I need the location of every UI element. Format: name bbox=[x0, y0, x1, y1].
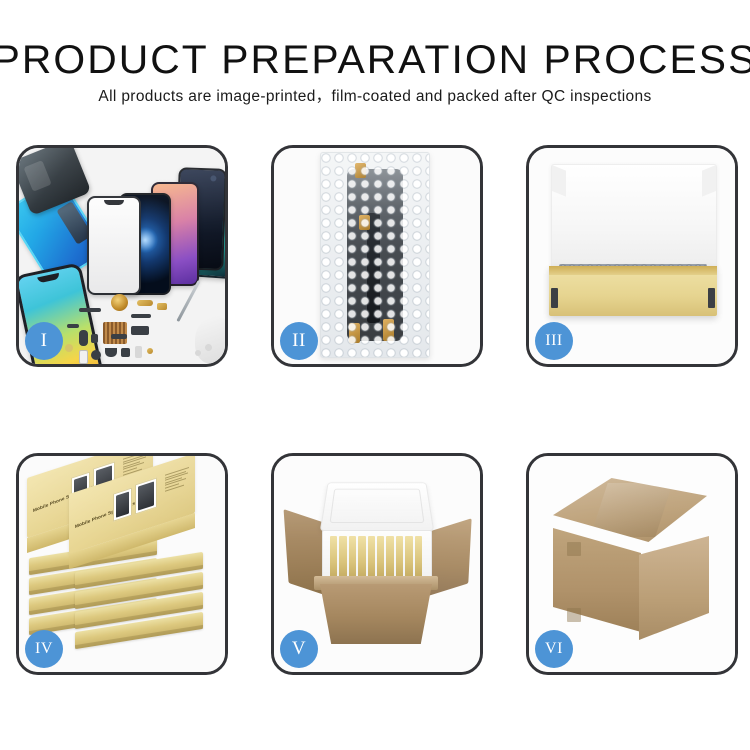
step-4-badge: IV bbox=[25, 630, 63, 668]
part-icon bbox=[205, 344, 212, 351]
yellow-retail-boxes-icon bbox=[330, 536, 422, 580]
box-window bbox=[113, 488, 132, 522]
tweezers-icon bbox=[176, 280, 200, 322]
part-icon bbox=[111, 334, 127, 339]
process-step-4: Mobile Phone Spare Parts Mobil bbox=[16, 453, 228, 675]
sealed-carton-top-icon bbox=[553, 478, 707, 542]
process-step-grid: I II bbox=[0, 0, 750, 750]
white-foam-lid-icon bbox=[551, 164, 717, 272]
part-icon bbox=[157, 303, 167, 310]
part-icon bbox=[135, 346, 142, 358]
tape-strip-icon bbox=[567, 608, 581, 622]
step-1-badge: I bbox=[25, 322, 63, 360]
white-front-glass-icon bbox=[87, 196, 141, 295]
part-icon bbox=[65, 344, 73, 352]
product-preparation-infographic: PRODUCT PREPARATION PROCESS All products… bbox=[0, 0, 750, 750]
box-notch-icon bbox=[708, 288, 715, 308]
part-icon bbox=[79, 350, 88, 364]
foam-lid-icon bbox=[320, 482, 434, 531]
tape-strip-icon bbox=[567, 542, 581, 556]
part-icon bbox=[91, 334, 98, 343]
sealed-carton-side-icon bbox=[639, 536, 709, 640]
part-icon bbox=[131, 326, 149, 335]
part-icon bbox=[121, 348, 130, 357]
gold-connector-tab-icon bbox=[349, 323, 360, 343]
part-icon bbox=[131, 314, 151, 318]
part-icon bbox=[91, 350, 101, 360]
process-step-2: II bbox=[271, 145, 483, 367]
box-spec-lines bbox=[165, 467, 189, 493]
process-step-5: V bbox=[271, 453, 483, 675]
gold-connector-tab-icon bbox=[359, 215, 370, 230]
kraft-inner-box-icon bbox=[549, 266, 717, 316]
disassembled-back-housing-icon bbox=[16, 145, 92, 216]
part-icon bbox=[105, 348, 117, 357]
part-icon bbox=[195, 350, 201, 356]
part-icon bbox=[67, 324, 79, 328]
step-3-badge: III bbox=[535, 322, 573, 360]
hand-icon bbox=[195, 316, 228, 364]
box-notch-icon bbox=[551, 288, 558, 308]
part-icon bbox=[137, 300, 153, 306]
outer-carton-icon bbox=[320, 584, 432, 644]
gold-connector-tab-icon bbox=[383, 319, 394, 341]
process-step-1: I bbox=[16, 145, 228, 367]
step-6-badge: VI bbox=[535, 630, 573, 668]
speaker-coil-icon bbox=[111, 294, 128, 311]
part-icon bbox=[79, 330, 88, 346]
part-icon bbox=[147, 348, 153, 354]
bubble-wrap-bag-icon bbox=[320, 152, 430, 358]
gold-connector-tab-icon bbox=[355, 163, 366, 178]
box-window bbox=[135, 477, 157, 514]
step-2-badge: II bbox=[280, 322, 318, 360]
part-icon bbox=[79, 308, 101, 312]
process-step-6: VI bbox=[526, 453, 738, 675]
step-5-badge: V bbox=[280, 630, 318, 668]
connector-pad-icon bbox=[103, 322, 127, 344]
process-step-3: III bbox=[526, 145, 738, 367]
